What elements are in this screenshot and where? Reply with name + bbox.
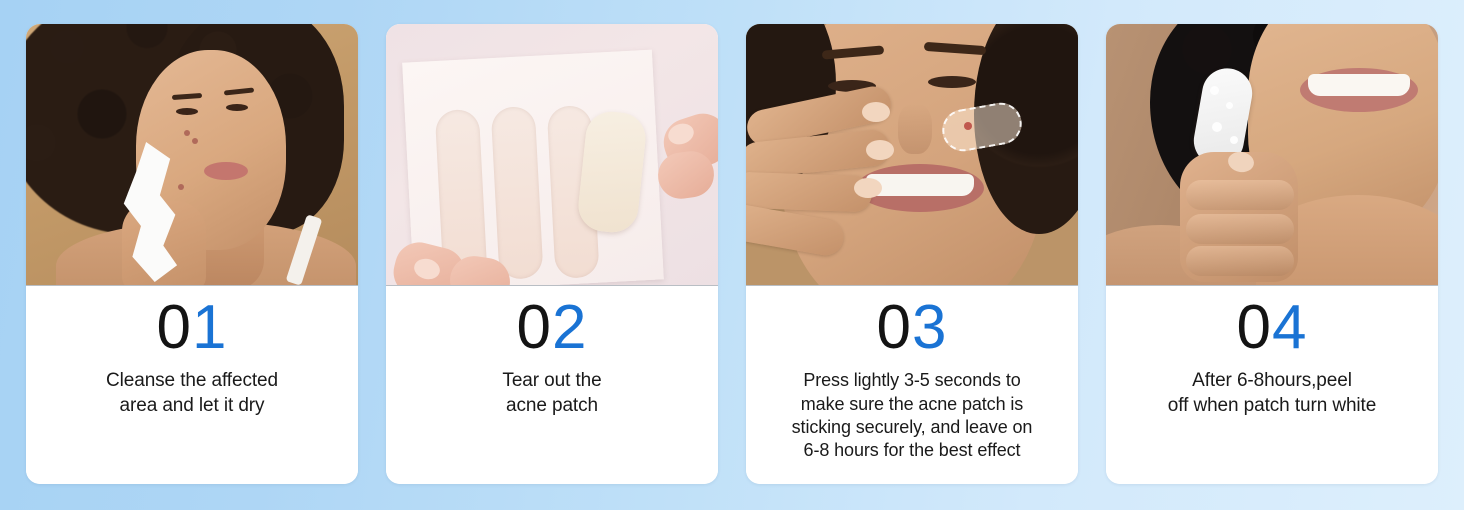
eye-left [176,108,198,115]
step-3-photo [746,24,1078,286]
lips-shape [204,162,248,180]
step-2-photo [386,24,718,286]
blemish-spot [184,130,190,136]
step-4-number-accent: 4 [1272,296,1307,359]
nose-shape [898,104,932,154]
step-1-description: Cleanse the affected area and let it dry [106,369,278,418]
fingernail-shape [862,102,890,122]
step-4-photo [1106,24,1438,286]
step-1-body: 01 Cleanse the affected area and let it … [26,286,358,484]
blemish-spot [964,122,972,130]
steps-board: 01 Cleanse the affected area and let it … [0,0,1464,510]
step-card-4: 04 After 6-8hours,peel off when patch tu… [1106,24,1438,484]
fingernail-shape [866,140,894,160]
knuckle-shape [1186,214,1294,244]
step-4-body: 04 After 6-8hours,peel off when patch tu… [1106,286,1438,484]
step-3-number-accent: 3 [912,296,947,359]
blemish-spot [192,138,198,144]
patch-dot [1226,102,1233,109]
fingernail-shape [854,178,882,198]
step-3-body: 03 Press lightly 3-5 seconds to make sur… [746,286,1078,484]
eye-right [226,104,248,111]
knuckle-shape [1186,246,1294,276]
step-3-number-prefix: 0 [877,296,912,359]
step-1-number: 01 [157,296,228,359]
knuckle-shape [1186,180,1294,210]
step-card-1: 01 Cleanse the affected area and let it … [26,24,358,484]
finger-shape [746,172,873,213]
teeth-shape [866,174,974,196]
blemish-spot [178,184,184,190]
step-2-number-accent: 2 [552,296,587,359]
step-3-number: 03 [877,296,948,359]
step-1-photo [26,24,358,286]
step-card-2: 02 Tear out the acne patch [386,24,718,484]
eye-right [928,76,976,88]
step-4-description: After 6-8hours,peel off when patch turn … [1168,369,1376,418]
step-3-description: Press lightly 3-5 seconds to make sure t… [792,369,1033,463]
step-1-number-prefix: 0 [157,296,192,359]
step-4-number-prefix: 0 [1237,296,1272,359]
patch-dot [1230,136,1238,144]
step-1-number-accent: 1 [192,296,227,359]
teeth-shape [1308,74,1410,96]
patch-dot [1210,86,1219,95]
step-2-description: Tear out the acne patch [502,369,601,418]
step-2-number: 02 [517,296,588,359]
step-card-3: 03 Press lightly 3-5 seconds to make sur… [746,24,1078,484]
step-4-number: 04 [1237,296,1308,359]
step-2-number-prefix: 0 [517,296,552,359]
acne-patch-pill [491,106,544,280]
patch-dot [1212,122,1222,132]
step-2-body: 02 Tear out the acne patch [386,286,718,484]
